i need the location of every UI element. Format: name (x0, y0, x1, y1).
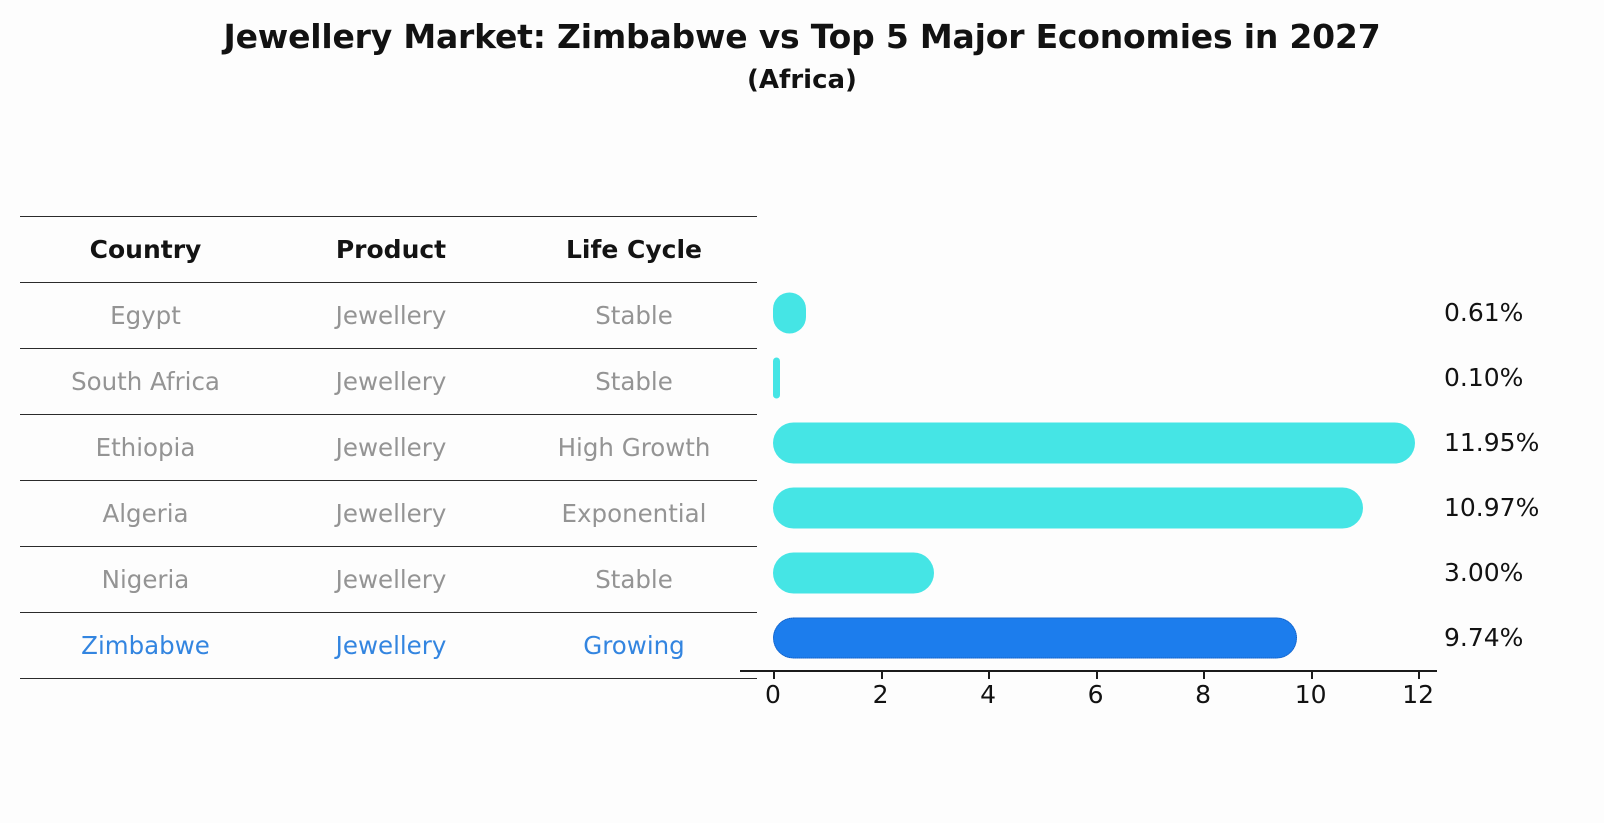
table-cell-product: Jewellery (271, 547, 511, 613)
table-cell-life-cycle: Exponential (511, 481, 757, 547)
data-table-container: Country Product Life Cycle EgyptJeweller… (20, 216, 757, 679)
x-tick-label: 10 (1295, 680, 1327, 709)
bar-row (773, 345, 1437, 410)
x-tick-label: 6 (1088, 680, 1104, 709)
value-label: 9.74% (1444, 605, 1594, 670)
page-subtitle: (Africa) (0, 65, 1604, 96)
axis-left-stub (740, 670, 773, 672)
x-tick (881, 670, 883, 679)
bar-nigeria (773, 552, 934, 593)
page-title: Jewellery Market: Zimbabwe vs Top 5 Majo… (0, 18, 1604, 57)
bar-south-africa (773, 357, 780, 398)
table-cell-country: Ethiopia (20, 415, 271, 481)
table-cell-product: Jewellery (271, 415, 511, 481)
table-cell-product: Jewellery (271, 481, 511, 547)
x-tick (988, 670, 990, 679)
x-tick-label: 0 (765, 680, 781, 709)
x-tick (1096, 670, 1098, 679)
column-header-product: Product (271, 217, 511, 283)
table-row: South AfricaJewelleryStable (20, 349, 757, 415)
bar-group (773, 280, 1437, 670)
table-cell-life-cycle: Stable (511, 349, 757, 415)
table-cell-country: Algeria (20, 481, 271, 547)
value-label: 0.61% (1444, 280, 1594, 345)
bar-row (773, 475, 1437, 540)
bar-row (773, 410, 1437, 475)
value-label: 11.95% (1444, 410, 1594, 475)
chart-title-block: Jewellery Market: Zimbabwe vs Top 5 Majo… (0, 0, 1604, 96)
table-body: EgyptJewelleryStableSouth AfricaJeweller… (20, 283, 757, 679)
table-cell-life-cycle: Growing (511, 613, 757, 679)
value-label-group: 0.61%0.10%11.95%10.97%3.00%9.74% (1444, 280, 1594, 670)
value-label: 3.00% (1444, 540, 1594, 605)
table-row: NigeriaJewelleryStable (20, 547, 757, 613)
table-header-row: Country Product Life Cycle (20, 217, 757, 283)
table-cell-life-cycle: High Growth (511, 415, 757, 481)
x-tick (1203, 670, 1205, 679)
bar-ethiopia (773, 422, 1415, 463)
bar-row (773, 605, 1437, 670)
x-tick (1418, 670, 1420, 679)
table-row: AlgeriaJewelleryExponential (20, 481, 757, 547)
x-tick-label: 12 (1402, 680, 1434, 709)
bar-zimbabwe (773, 617, 1297, 658)
bar-row (773, 280, 1437, 345)
bar-algeria (773, 487, 1363, 528)
column-header-life-cycle: Life Cycle (511, 217, 757, 283)
table-cell-life-cycle: Stable (511, 283, 757, 349)
x-tick (1311, 670, 1313, 679)
table-cell-country: Nigeria (20, 547, 271, 613)
column-header-country: Country (20, 217, 271, 283)
table-cell-product: Jewellery (271, 349, 511, 415)
table-cell-life-cycle: Stable (511, 547, 757, 613)
table-row: EgyptJewelleryStable (20, 283, 757, 349)
x-tick (773, 670, 775, 679)
x-tick-label: 2 (873, 680, 889, 709)
table-cell-country: Egypt (20, 283, 271, 349)
table-row: ZimbabweJewelleryGrowing (20, 613, 757, 679)
value-label: 10.97% (1444, 475, 1594, 540)
x-tick-label: 8 (1195, 680, 1211, 709)
bar-chart: 024681012 (773, 280, 1437, 683)
table-cell-product: Jewellery (271, 283, 511, 349)
table-cell-product: Jewellery (271, 613, 511, 679)
bar-egypt (773, 292, 806, 333)
table-cell-country: Zimbabwe (20, 613, 271, 679)
country-table: Country Product Life Cycle EgyptJeweller… (20, 216, 757, 679)
table-row: EthiopiaJewelleryHigh Growth (20, 415, 757, 481)
value-label: 0.10% (1444, 345, 1594, 410)
x-tick-label: 4 (980, 680, 996, 709)
bar-row (773, 540, 1437, 605)
x-axis-line (773, 670, 1437, 672)
table-cell-country: South Africa (20, 349, 271, 415)
